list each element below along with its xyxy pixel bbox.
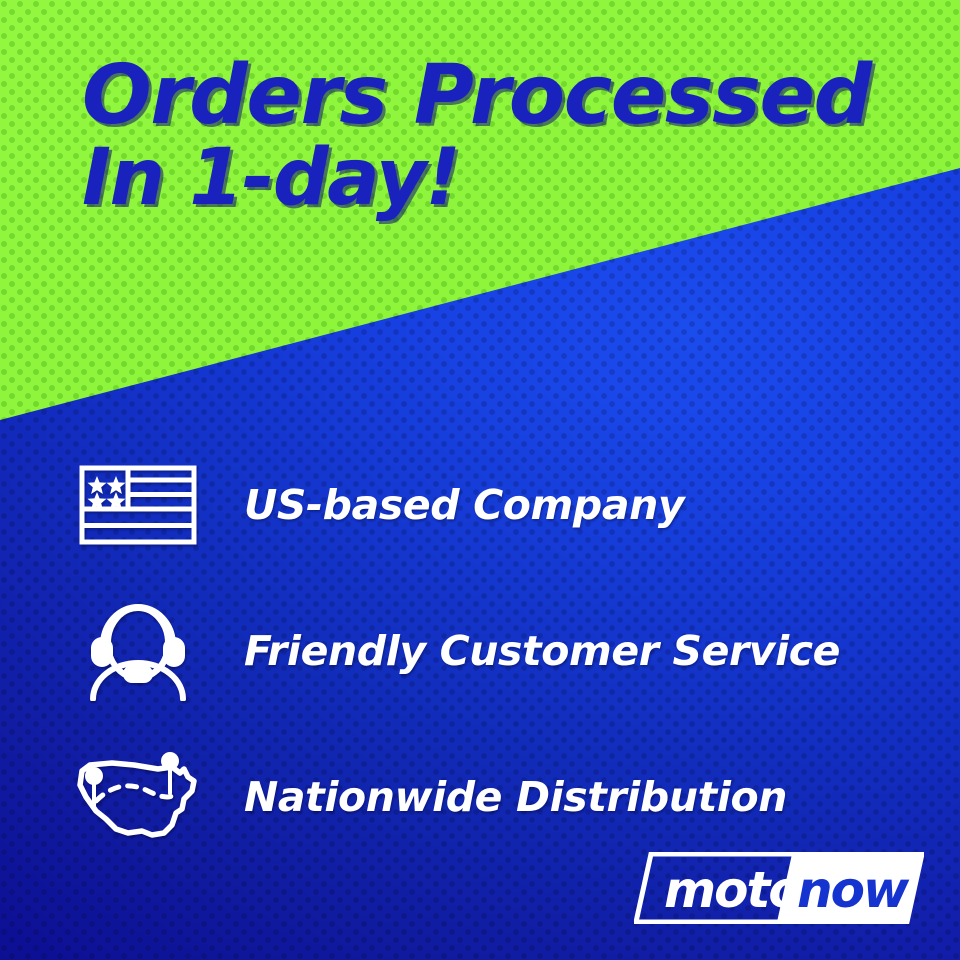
motonow-logo[interactable]: moto now <box>634 852 924 924</box>
feature-label: Nationwide Distribution <box>206 773 787 821</box>
feature-label: Friendly Customer Service <box>206 627 840 675</box>
headline-line-2: In 1-day! <box>82 140 922 216</box>
feature-row: Nationwide Distribution <box>70 724 900 870</box>
promo-banner: Orders Processed In 1-day! <box>0 0 960 960</box>
headline-line-1: Orders Processed <box>82 56 922 136</box>
feature-list: US-based Company <box>70 432 900 870</box>
us-map-distribution-icon <box>70 751 206 843</box>
logo-text-moto: moto <box>664 861 801 919</box>
headline: Orders Processed In 1-day! <box>82 56 922 217</box>
headset-agent-icon <box>70 601 206 701</box>
us-flag-icon <box>70 464 206 546</box>
feature-label: US-based Company <box>206 481 684 529</box>
logo-text-now: now <box>797 861 910 919</box>
feature-row: US-based Company <box>70 432 900 578</box>
feature-row: Friendly Customer Service <box>70 578 900 724</box>
